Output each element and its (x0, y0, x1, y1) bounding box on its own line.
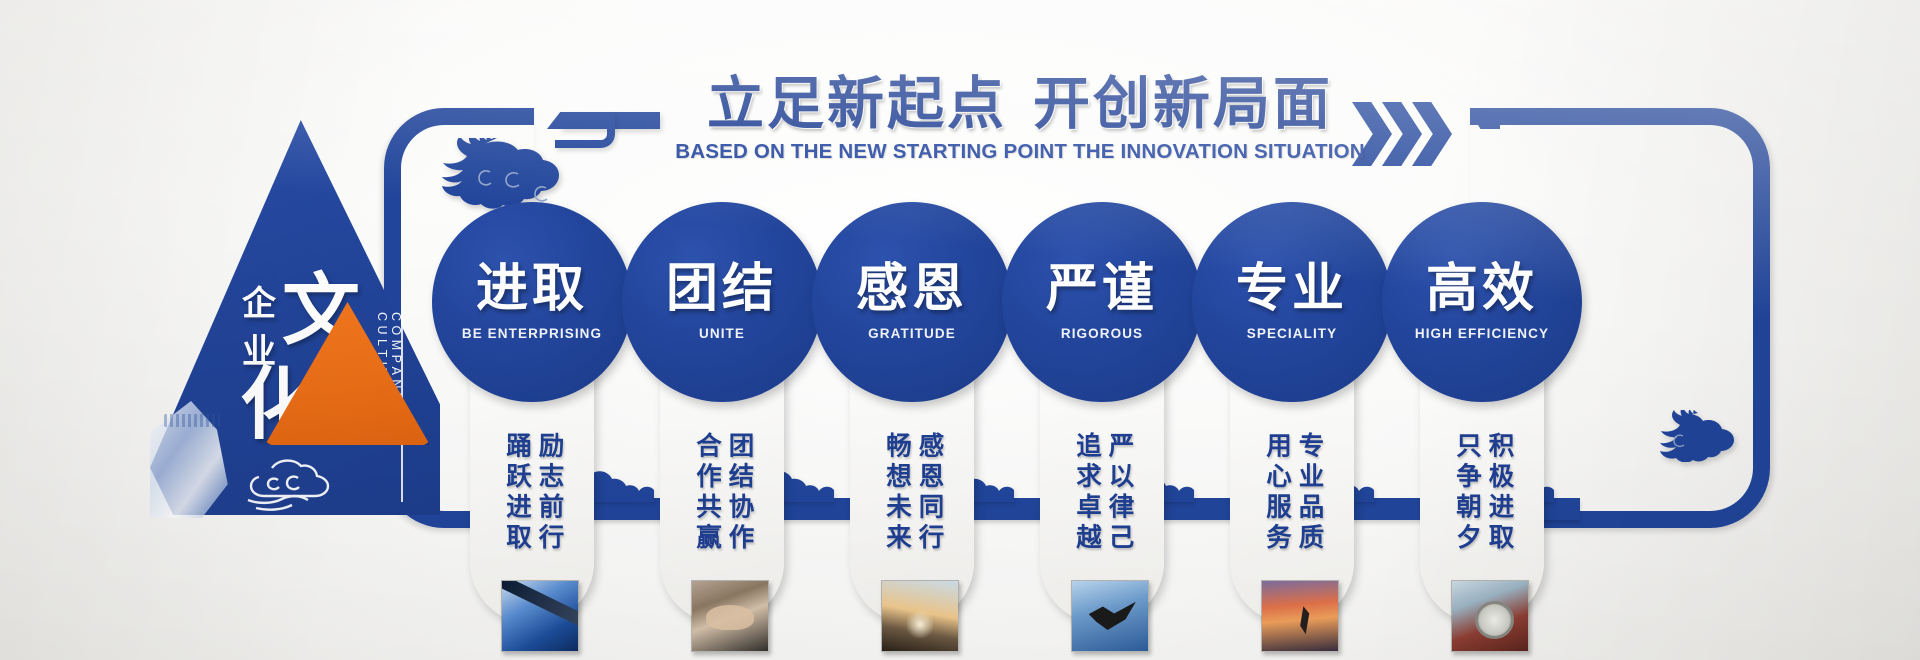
value-card-title: 高效 (1426, 263, 1538, 315)
value-card-slogan: 严以律己追求卓越 (1040, 432, 1164, 572)
value-card-badge[interactable]: 高效HIGH EFFICIENCY (1382, 202, 1582, 402)
headline-phrase-1: 立足新起点 (707, 72, 1007, 136)
value-card-photo (1261, 580, 1339, 652)
culture-wall-photo: 立足新起点开创新局面 BASED ON THE NEW STARTING POI… (0, 0, 1920, 660)
value-card-title: 专业 (1236, 263, 1348, 315)
value-card-slogan-left: 踊跃进取 (503, 432, 529, 572)
value-card-slogan-right: 感恩同行 (916, 432, 942, 572)
value-card-english: UNITE (699, 326, 745, 341)
headline-english: BASED ON THE NEW STARTING POINT THE INNO… (660, 140, 1380, 164)
value-card-slogan-right: 团结协作 (726, 432, 752, 572)
value-card-slogan-left: 合作共赢 (693, 432, 719, 572)
value-card-badge[interactable]: 团结UNITE (622, 202, 822, 402)
headline-phrase-2: 开创新局面 (1033, 72, 1333, 136)
value-card-english: BE ENTERPRISING (462, 326, 602, 341)
value-card-photo (691, 580, 769, 652)
headline-block: 立足新起点开创新局面 BASED ON THE NEW STARTING POI… (660, 76, 1380, 164)
value-card-slogan-left: 追求卓越 (1073, 432, 1099, 572)
value-card-badge[interactable]: 严谨RIGOROUS (1002, 202, 1202, 402)
value-card-slogan: 励志前行踊跃进取 (470, 432, 594, 572)
value-card-5[interactable]: 专业SPECIALITY专业品质用心服务 (1230, 236, 1354, 624)
value-card-english: RIGOROUS (1061, 326, 1143, 341)
value-card-slogan-right: 严以律己 (1106, 432, 1132, 572)
value-card-slogan: 团结协作合作共赢 (660, 432, 784, 572)
value-card-6[interactable]: 高效HIGH EFFICIENCY积极进取只争朝夕 (1420, 236, 1544, 624)
value-card-badge[interactable]: 进取BE ENTERPRISING (432, 202, 632, 402)
value-card-1[interactable]: 进取BE ENTERPRISING励志前行踊跃进取 (470, 236, 594, 624)
company-culture-logo: 企 业 文 化 COMPANY CULTURE (150, 120, 450, 520)
value-card-title: 感恩 (856, 263, 968, 315)
value-card-slogan-right: 专业品质 (1296, 432, 1322, 572)
value-card-title: 严谨 (1046, 263, 1158, 315)
auspicious-cloud-small-icon (1655, 410, 1751, 462)
value-card-title: 进取 (476, 263, 588, 315)
headline-chinese: 立足新起点开创新局面 (660, 76, 1380, 133)
value-card-slogan: 感恩同行畅想未来 (850, 432, 974, 572)
value-card-title: 团结 (666, 263, 778, 315)
film-watermark (164, 414, 220, 427)
value-card-slogan-right: 积极进取 (1486, 432, 1512, 572)
value-card-photo (1451, 580, 1529, 652)
value-card-2[interactable]: 团结UNITE团结协作合作共赢 (660, 236, 784, 624)
value-card-3[interactable]: 感恩GRATITUDE感恩同行畅想未来 (850, 236, 974, 624)
value-card-photo (501, 580, 579, 652)
value-card-slogan-left: 畅想未来 (883, 432, 909, 572)
value-card-photo (881, 580, 959, 652)
value-card-badge[interactable]: 专业SPECIALITY (1192, 202, 1392, 402)
logo-char-qi: 企 (242, 288, 276, 322)
value-card-photo (1071, 580, 1149, 652)
value-card-slogan-left: 用心服务 (1263, 432, 1289, 572)
value-card-english: GRATITUDE (868, 326, 956, 341)
value-card-english: HIGH EFFICIENCY (1415, 326, 1549, 341)
value-card-4[interactable]: 严谨RIGOROUS严以律己追求卓越 (1040, 236, 1164, 624)
value-card-slogan: 专业品质用心服务 (1230, 432, 1354, 572)
value-card-slogan-right: 励志前行 (536, 432, 562, 572)
value-card-english: SPECIALITY (1247, 326, 1338, 341)
value-card-slogan-left: 只争朝夕 (1453, 432, 1479, 572)
value-card-badge[interactable]: 感恩GRATITUDE (812, 202, 1012, 402)
logo-cloud-icon (242, 450, 334, 512)
value-card-slogan: 积极进取只争朝夕 (1420, 432, 1544, 572)
